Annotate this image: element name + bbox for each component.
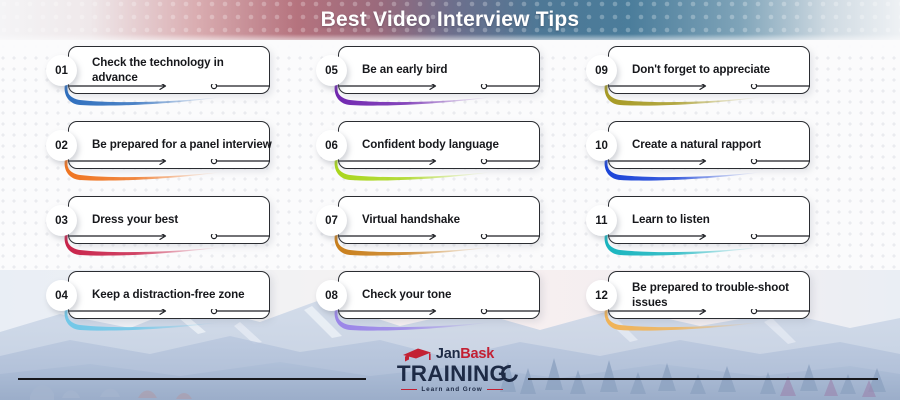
card-label: Be prepared for a panel interview <box>92 121 272 169</box>
card-number-badge: 12 <box>586 280 617 311</box>
tip-card[interactable]: Be prepared to trouble-shoot issues12 <box>586 271 810 319</box>
tips-card-grid: Check the technology in advance01Be prep… <box>0 44 900 340</box>
tip-card[interactable]: Keep a distraction-free zone04 <box>46 271 270 319</box>
card-number-badge: 09 <box>586 55 617 86</box>
card-number-badge: 06 <box>316 130 347 161</box>
card-number-badge: 04 <box>46 280 77 311</box>
card-label: Check the technology in advance <box>92 46 272 94</box>
tip-card[interactable]: Be an early bird05 <box>316 46 540 94</box>
card-number-badge: 07 <box>316 205 347 236</box>
infographic-canvas: Best Video Interview Tips JanBask TRAINI… <box>0 0 900 400</box>
graduation-cap-icon <box>402 348 432 363</box>
logo-text-bask: Bask <box>460 346 494 362</box>
tip-card[interactable]: Confident body language06 <box>316 121 540 169</box>
card-label: Learn to listen <box>632 196 812 244</box>
logo-text-training: TRAINING <box>382 363 522 385</box>
card-number-badge: 05 <box>316 55 347 86</box>
tip-card[interactable]: Check the technology in advance01 <box>46 46 270 94</box>
tip-card[interactable]: Learn to listen11 <box>586 196 810 244</box>
logo-training-word: TRAINING <box>397 361 507 386</box>
tagline-dash-right <box>487 389 503 390</box>
logo-text-jan: Jan <box>436 346 460 362</box>
card-number-badge: 03 <box>46 205 77 236</box>
janbask-training-logo: JanBask TRAINING Learn and Grow <box>382 346 522 396</box>
page-title: Best Video Interview Tips <box>0 0 900 40</box>
tip-card[interactable]: Check your tone08 <box>316 271 540 319</box>
tip-card[interactable]: Create a natural rapport10 <box>586 121 810 169</box>
card-label: Confident body language <box>362 121 542 169</box>
logo-tagline-text: Learn and Grow <box>421 386 482 393</box>
card-label: Be prepared to trouble-shoot issues <box>632 271 812 319</box>
logo-tagline-row: Learn and Grow <box>382 386 522 393</box>
footer-divider-left <box>18 378 366 380</box>
card-number-badge: 11 <box>586 205 617 236</box>
card-label: Keep a distraction-free zone <box>92 271 272 319</box>
card-number-badge: 01 <box>46 55 77 86</box>
card-label: Dress your best <box>92 196 272 244</box>
tip-card[interactable]: Dress your best03 <box>46 196 270 244</box>
card-label: Virtual handshake <box>362 196 542 244</box>
card-label: Create a natural rapport <box>632 121 812 169</box>
card-number-badge: 10 <box>586 130 617 161</box>
card-label: Check your tone <box>362 271 542 319</box>
tagline-dash-left <box>401 389 417 390</box>
card-number-badge: 02 <box>46 130 77 161</box>
tip-card[interactable]: Don't forget to appreciate09 <box>586 46 810 94</box>
card-number-badge: 08 <box>316 280 347 311</box>
card-label: Don't forget to appreciate <box>632 46 812 94</box>
card-label: Be an early bird <box>362 46 542 94</box>
tip-card[interactable]: Virtual handshake07 <box>316 196 540 244</box>
footer-divider-right <box>528 378 878 380</box>
tip-card[interactable]: Be prepared for a panel interview02 <box>46 121 270 169</box>
